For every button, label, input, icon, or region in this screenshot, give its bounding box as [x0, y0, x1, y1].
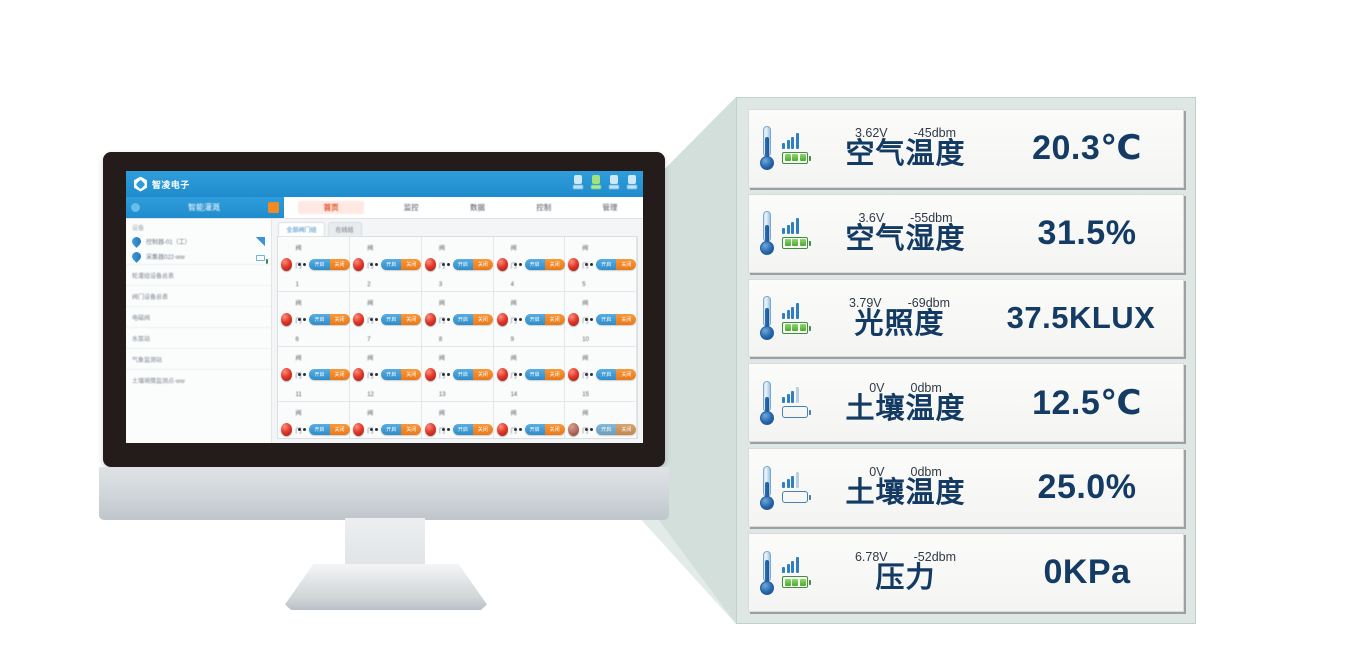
valve-toggle-on-label: 开启 [525, 314, 545, 325]
valve-status-bulb-icon [497, 313, 508, 326]
sensor-row[interactable]: 6.78V-52dbm压力0KPa [748, 533, 1184, 612]
valve-label: 阀门9 [511, 301, 517, 343]
valve-cell[interactable]: 阀门7开启关闭 [350, 292, 422, 347]
valve-cell[interactable]: 阀门3开启关闭 [422, 237, 494, 292]
valve-cell[interactable]: 阀门18开启关闭 [422, 402, 494, 439]
thermometer-icon [759, 126, 775, 170]
valve-label: 阀门4 [511, 246, 517, 288]
valve-toggle-on-label: 开启 [596, 259, 616, 270]
monitor-neck [345, 518, 425, 568]
sensor-icons [759, 296, 808, 340]
sensor-text: 3.79V-69dbm光照度 [816, 296, 983, 340]
valve-toggle-on-label: 开启 [381, 259, 401, 270]
valve-cell[interactable]: 阀门17开启关闭 [350, 402, 422, 439]
valve-toggle-off-label: 关闭 [330, 314, 350, 325]
nav-tab-3[interactable]: 控制 [511, 202, 577, 213]
valve-cell[interactable]: 阀门4开启关闭 [494, 237, 566, 292]
sidebar-device-1[interactable]: 采集器022-ww [126, 249, 271, 264]
nav-tab-1[interactable]: 监控 [378, 202, 444, 213]
valve-cell[interactable]: 阀门20开启关闭 [565, 402, 637, 439]
online-icon[interactable] [590, 175, 601, 193]
valve-toggle-on-label: 开启 [309, 314, 329, 325]
valve-toggle-on-label: 开启 [309, 424, 329, 435]
sidebar-row-5[interactable]: 土壤墒情监测点-ww [126, 369, 271, 390]
sensor-status-icons [782, 387, 808, 418]
sensor-icons [759, 211, 808, 255]
valve-toggle[interactable]: 开启关闭 [525, 314, 565, 325]
valve-toggle-off-label: 关闭 [401, 369, 421, 380]
monitor-chin [99, 467, 669, 520]
valve-status-bulb-icon [281, 313, 292, 326]
valve-toggle-off-label: 关闭 [330, 369, 350, 380]
battery-empty-icon [782, 491, 808, 503]
app-main: 全部阀门组 在线组 阀门1开启关闭阀门2开启关闭阀门3开启关闭阀门4开启关闭阀门… [272, 219, 643, 443]
valve-cell[interactable]: 阀门1开启关闭 [278, 237, 350, 292]
battery-full-icon [782, 322, 808, 334]
sensor-status-icons [782, 472, 808, 503]
sensor-text: 0V0dbm土壤温度 [816, 381, 995, 425]
sensor-row[interactable]: 3.62V-45dbm空气温度20.3℃ [748, 109, 1184, 188]
signal-bars-icon [782, 133, 799, 149]
sensor-row[interactable]: 3.6V-55dbm空气湿度31.5% [748, 194, 1184, 273]
valve-toggle-off-label: 关闭 [473, 424, 493, 435]
valve-status-bulb-icon [497, 423, 508, 436]
valve-label: 阀门19 [511, 411, 518, 439]
valve-toggle[interactable]: 开启关闭 [453, 314, 493, 325]
valve-toggle[interactable]: 开启关闭 [381, 259, 421, 270]
main-tabs: 全部阀门组 在线组 [272, 219, 643, 236]
valve-cell[interactable]: 阀门13开启关闭 [422, 347, 494, 402]
valve-toggle[interactable]: 开启关闭 [525, 259, 565, 270]
valve-toggle-off-label: 关闭 [330, 424, 350, 435]
valve-toggle-on-label: 开启 [309, 369, 329, 380]
valve-label: 阀门5 [582, 246, 588, 288]
sidebar-row-2[interactable]: 电磁阀 [126, 306, 271, 327]
valve-toggle-on-label: 开启 [453, 259, 473, 270]
main-tab-1[interactable]: 在线组 [328, 222, 362, 236]
app-sidebar: 设备 控制器-01（工） 采集器022-ww 轮灌组设备总表 阀门设备总表 电磁… [126, 219, 272, 443]
sensor-name: 空气温度 [845, 138, 965, 170]
valve-cell[interactable]: 阀门11开启关闭 [278, 347, 350, 402]
valve-label: 阀门17 [367, 411, 374, 439]
valve-label: 阀门10 [582, 301, 589, 343]
valve-toggle-off-label: 关闭 [401, 424, 421, 435]
sidebar-device-0[interactable]: 控制器-01（工） [126, 234, 271, 249]
valve-toggle[interactable]: 开启关闭 [596, 424, 636, 435]
valve-toggle-on-label: 开启 [596, 314, 616, 325]
sensor-row[interactable]: 0V0dbm土壤温度12.5℃ [748, 363, 1184, 442]
sensor-name: 土壤温度 [845, 393, 965, 425]
valve-cell[interactable]: 阀门5开启关闭 [565, 237, 637, 292]
valve-cell[interactable]: 阀门12开启关闭 [350, 347, 422, 402]
valve-cell[interactable]: 阀门2开启关闭 [350, 237, 422, 292]
valve-toggle-off-label: 关闭 [616, 369, 636, 380]
sensor-icons [759, 126, 808, 170]
valve-toggle-on-label: 开启 [525, 369, 545, 380]
valve-toggle-off-label: 关闭 [473, 369, 493, 380]
sensor-text: 0V0dbm土壤温度 [816, 465, 995, 509]
nav-title: 智能灌溉 [188, 202, 220, 213]
sensor-row[interactable]: 0V0dbm土壤温度25.0% [748, 448, 1184, 527]
valve-toggle-off-label: 关闭 [401, 259, 421, 270]
valve-status-bulb-icon [281, 258, 292, 271]
valve-toggle-off-label: 关闭 [545, 424, 565, 435]
sidebar-row-1[interactable]: 阀门设备总表 [126, 285, 271, 306]
sensor-icons [759, 551, 808, 595]
valve-toggle-on-label: 开启 [525, 259, 545, 270]
sensor-status-icons [782, 557, 808, 588]
nav-left: 智能灌溉 [126, 197, 284, 218]
thermometer-icon [759, 296, 775, 340]
valve-toggle[interactable]: 开启关闭 [381, 369, 421, 380]
valve-status-bulb-icon [425, 313, 436, 326]
valve-status-bulb-icon [568, 368, 579, 381]
battery-full-icon [782, 576, 808, 588]
thermometer-icon [759, 211, 775, 255]
valve-toggle-off-label: 关闭 [545, 259, 565, 270]
valve-toggle-on-label: 开启 [381, 424, 401, 435]
valve-label: 阀门6 [295, 301, 301, 343]
valve-label: 阀门16 [295, 411, 302, 439]
sidebar-row-0[interactable]: 轮灌组设备总表 [126, 264, 271, 285]
alarm-icon[interactable] [572, 175, 583, 193]
sidebar-device-label: 采集器022-ww [146, 252, 251, 261]
battery-full-icon [782, 237, 808, 249]
valve-status-bulb-icon [353, 258, 364, 271]
valve-label: 阀门2 [367, 246, 373, 288]
signal-bars-icon [782, 472, 799, 488]
valve-status-bulb-icon [568, 313, 579, 326]
app-topbar: 智凌电子 [126, 171, 643, 197]
thermometer-icon [759, 551, 775, 595]
valve-toggle-off-label: 关闭 [473, 259, 493, 270]
valve-toggle[interactable]: 开启关闭 [309, 424, 349, 435]
valve-status-bulb-icon [497, 368, 508, 381]
sensor-status-icons [782, 303, 808, 334]
valve-toggle[interactable]: 开启关闭 [525, 424, 565, 435]
signal-icon [256, 237, 265, 246]
app-navbar: 智能灌溉 首页 监控 数据 控制 管理 [126, 197, 643, 219]
valve-label: 阀门14 [511, 356, 518, 398]
valve-toggle-off-label: 关闭 [330, 259, 350, 270]
thermometer-icon [759, 381, 775, 425]
sensor-list: 3.62V-45dbm空气温度20.3℃3.6V-55dbm空气湿度31.5%3… [748, 109, 1184, 612]
sensor-name: 土壤温度 [845, 477, 965, 509]
nav-tab-4[interactable]: 管理 [577, 202, 643, 213]
valve-toggle[interactable]: 开启关闭 [309, 259, 349, 270]
valve-toggle-off-label: 关闭 [545, 369, 565, 380]
settings-icon[interactable] [608, 175, 619, 193]
valve-toggle[interactable]: 开启关闭 [453, 259, 493, 270]
sensor-panel: 3.62V-45dbm空气温度20.3℃3.6V-55dbm空气湿度31.5%3… [736, 97, 1196, 624]
valve-label: 阀门11 [295, 356, 301, 398]
valve-cell[interactable]: 阀门9开启关闭 [494, 292, 566, 347]
sensor-text: 3.6V-55dbm空气湿度 [816, 211, 995, 255]
signal-bars-icon [782, 557, 799, 573]
valve-cell[interactable]: 阀门8开启关闭 [422, 292, 494, 347]
valve-toggle-on-label: 开启 [309, 259, 329, 270]
monitor: 智凌电子 智能灌溉 首页 监控 数据 [103, 152, 665, 467]
valve-toggle-off-label: 关闭 [616, 259, 636, 270]
valve-toggle-on-label: 开启 [381, 314, 401, 325]
valve-status-bulb-icon [425, 368, 436, 381]
nav-tab-2[interactable]: 数据 [444, 202, 510, 213]
valve-toggle-on-label: 开启 [596, 369, 616, 380]
valve-label: 阀门20 [582, 411, 589, 439]
sensor-text: 6.78V-52dbm压力 [816, 550, 995, 594]
signal-bars-icon [782, 303, 799, 319]
app-logo[interactable]: 智凌电子 [133, 177, 190, 192]
valve-toggle[interactable]: 开启关闭 [596, 369, 636, 380]
battery-full-icon [782, 152, 808, 164]
valve-status-bulb-icon [568, 423, 579, 436]
valve-toggle[interactable]: 开启关闭 [453, 424, 493, 435]
valve-cell[interactable]: 阀门19开启关闭 [494, 402, 566, 439]
app-body: 设备 控制器-01（工） 采集器022-ww 轮灌组设备总表 阀门设备总表 电磁… [126, 219, 643, 443]
valve-status-bulb-icon [281, 423, 292, 436]
valve-toggle-on-label: 开启 [453, 314, 473, 325]
battery-icon [256, 255, 265, 261]
valve-toggle[interactable]: 开启关闭 [381, 314, 421, 325]
valve-toggle-on-label: 开启 [525, 424, 545, 435]
valve-status-bulb-icon [353, 313, 364, 326]
valve-status-bulb-icon [353, 368, 364, 381]
valve-toggle-off-label: 关闭 [545, 314, 565, 325]
sensor-value: 20.3℃ [1003, 128, 1171, 168]
valve-cell[interactable]: 阀门15开启关闭 [565, 347, 637, 402]
sidebar-row-4[interactable]: 气象监测站 [126, 348, 271, 369]
sensor-value: 37.5KLUX [991, 300, 1171, 336]
valve-status-bulb-icon [281, 368, 292, 381]
sensor-status-icons [782, 218, 808, 249]
sensor-status-icons [782, 133, 808, 164]
sensor-icons [759, 466, 808, 510]
valve-toggle-on-label: 开启 [381, 369, 401, 380]
sensor-name: 光照度 [854, 308, 944, 340]
valve-toggle[interactable]: 开启关闭 [596, 314, 636, 325]
sidebar-row-3[interactable]: 水泵站 [126, 327, 271, 348]
sensor-icons [759, 381, 808, 425]
valve-toggle-off-label: 关闭 [616, 424, 636, 435]
thermometer-icon [759, 466, 775, 510]
valve-toggle[interactable]: 开启关闭 [596, 259, 636, 270]
valve-label: 阀门3 [439, 246, 445, 288]
valve-label: 阀门8 [439, 301, 445, 343]
monitor-base [285, 564, 487, 610]
valve-label: 阀门18 [439, 411, 446, 439]
nav-tab-0[interactable]: 首页 [298, 201, 364, 214]
sensor-value: 31.5% [1003, 214, 1171, 253]
sensor-value: 12.5℃ [1003, 383, 1171, 423]
valve-cell[interactable]: 阀门10开启关闭 [565, 292, 637, 347]
valve-toggle[interactable]: 开启关闭 [309, 369, 349, 380]
sidebar-device-label: 控制器-01（工） [146, 237, 251, 246]
user-icon[interactable] [626, 175, 637, 193]
valve-grid: 阀门1开启关闭阀门2开启关闭阀门3开启关闭阀门4开启关闭阀门5开启关闭阀门6开启… [277, 236, 638, 439]
sensor-text: 3.62V-45dbm空气温度 [816, 126, 995, 170]
valve-label: 阀门1 [295, 246, 301, 288]
device-pin-icon [130, 250, 143, 263]
valve-status-bulb-icon [353, 423, 364, 436]
sidebar-caption: 设备 [126, 219, 271, 234]
valve-label: 阀门13 [439, 356, 446, 398]
battery-empty-icon [782, 406, 808, 418]
valve-toggle-off-label: 关闭 [401, 314, 421, 325]
sensor-name: 空气湿度 [845, 223, 965, 255]
valve-toggle-on-label: 开启 [596, 424, 616, 435]
valve-toggle-off-label: 关闭 [473, 314, 493, 325]
main-tab-0[interactable]: 全部阀门组 [278, 222, 324, 236]
device-pin-icon [130, 235, 143, 248]
valve-toggle-on-label: 开启 [453, 424, 473, 435]
valve-cell[interactable]: 阀门14开启关闭 [494, 347, 566, 402]
nav-tabs: 首页 监控 数据 控制 管理 [284, 197, 643, 218]
valve-label: 阀门7 [367, 301, 373, 343]
valve-label: 阀门12 [367, 356, 374, 398]
valve-status-bulb-icon [425, 258, 436, 271]
app-logo-text: 智凌电子 [152, 178, 190, 191]
sensor-value: 0KPa [1003, 553, 1171, 592]
screenshot-stage: 智凌电子 智能灌溉 首页 监控 数据 [0, 0, 1352, 668]
valve-cell[interactable]: 阀门16开启关闭 [278, 402, 350, 439]
home-icon[interactable] [268, 202, 279, 213]
valve-label: 阀门15 [582, 356, 589, 398]
sensor-row[interactable]: 3.79V-69dbm光照度37.5KLUX [748, 279, 1184, 358]
valve-toggle-off-label: 关闭 [616, 314, 636, 325]
valve-toggle[interactable]: 开启关闭 [381, 424, 421, 435]
sensor-name: 压力 [875, 562, 935, 594]
valve-toggle[interactable]: 开启关闭 [309, 314, 349, 325]
sensor-value: 25.0% [1003, 468, 1171, 507]
valve-status-bulb-icon [568, 258, 579, 271]
signal-bars-icon [782, 387, 799, 403]
valve-status-bulb-icon [497, 258, 508, 271]
signal-bars-icon [782, 218, 799, 234]
valve-cell[interactable]: 阀门6开启关闭 [278, 292, 350, 347]
hexagon-logo-icon [133, 177, 148, 192]
valve-status-bulb-icon [425, 423, 436, 436]
valve-toggle[interactable]: 开启关闭 [525, 369, 565, 380]
valve-toggle[interactable]: 开启关闭 [453, 369, 493, 380]
monitor-screen: 智凌电子 智能灌溉 首页 监控 数据 [126, 171, 643, 443]
topbar-tools [572, 175, 637, 193]
back-arrow-icon[interactable] [131, 203, 140, 212]
valve-toggle-on-label: 开启 [453, 369, 473, 380]
